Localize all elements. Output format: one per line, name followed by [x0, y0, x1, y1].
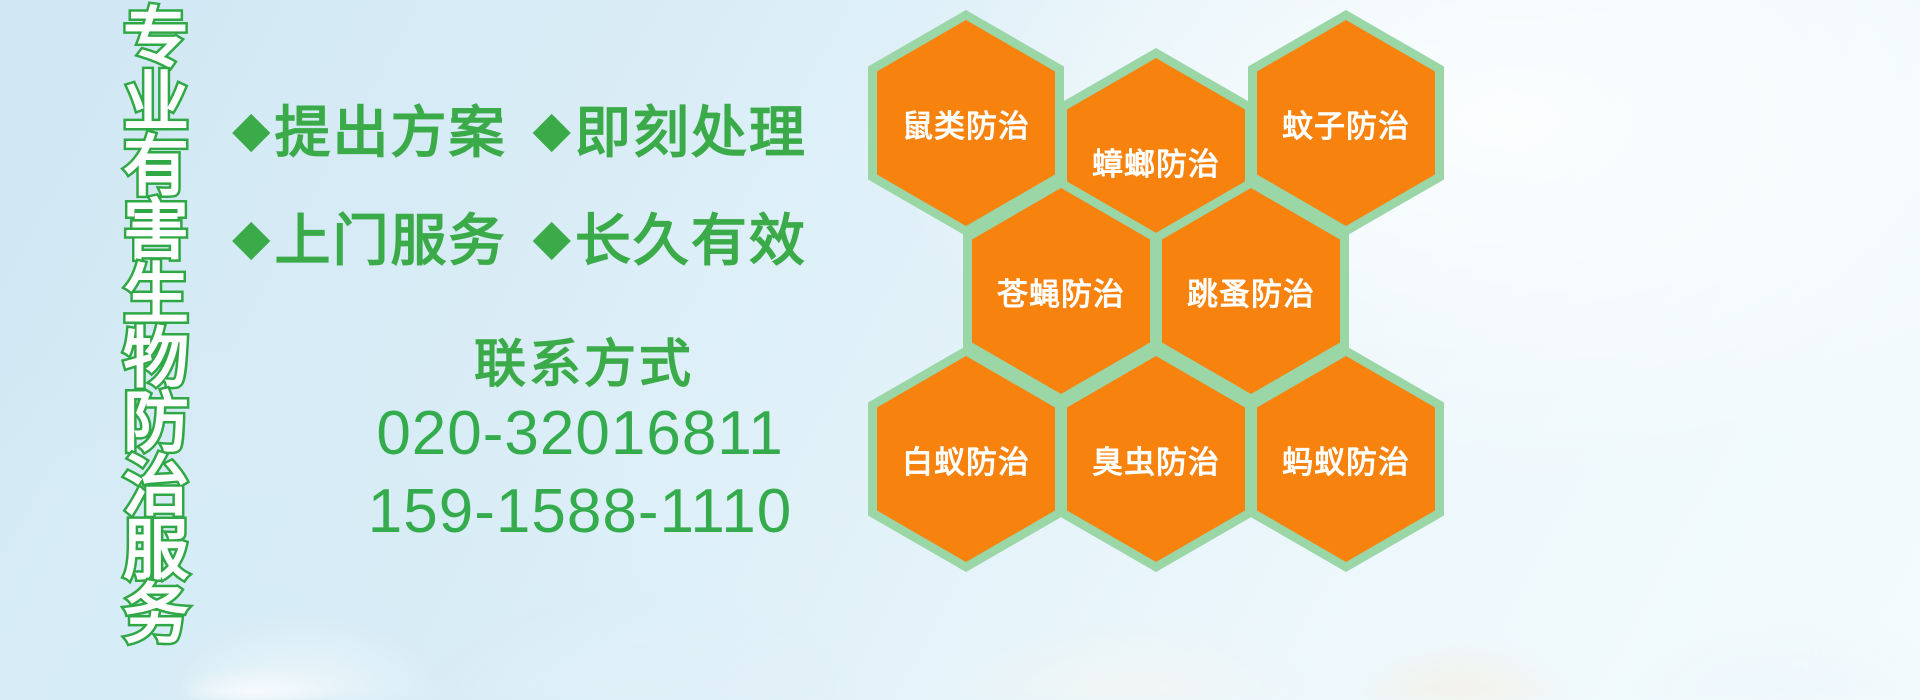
- slogan-text-propose-plan: 提出方案: [274, 88, 506, 169]
- vertical-headline-char: 防: [123, 390, 189, 454]
- contact-phone-mobile[interactable]: 159-1588-1110: [300, 476, 860, 547]
- slogan-text-immediate-handling: 即刻处理: [575, 88, 807, 169]
- hex-label: 鼠类防治: [902, 101, 1030, 146]
- contact-phone-landline[interactable]: 020-32016811: [300, 398, 860, 469]
- diamond-bullet-icon: ◆: [232, 212, 270, 262]
- pest-control-service-banner: 专 业 有 害 生 物 防 治 服 务 ◆ 提出方案 ◆ 即刻处理 ◆ 上门服务…: [0, 0, 1920, 700]
- hex-label: 苍蝇防治: [997, 269, 1125, 314]
- vertical-headline: 专 业 有 害 生 物 防 治 服 务: [104, 6, 208, 566]
- slogan-text-onsite-service: 上门服务: [274, 196, 506, 277]
- slogan-line-2: ◆ 上门服务 ◆ 长久有效: [232, 196, 807, 277]
- hex-label: 跳蚤防治: [1187, 269, 1315, 314]
- diamond-bullet-icon: ◆: [532, 212, 570, 262]
- hex-label: 蚂蚁防治: [1282, 437, 1410, 482]
- vertical-headline-char: 服: [123, 518, 189, 582]
- contact-heading: 联系方式: [424, 322, 744, 397]
- background-haze-secondary: [190, 640, 420, 700]
- vertical-headline-char: 有: [123, 134, 189, 198]
- vertical-headline-char: 害: [123, 198, 189, 262]
- vertical-headline-char: 务: [123, 582, 189, 646]
- vertical-headline-char: 生: [123, 262, 189, 326]
- diamond-bullet-icon: ◆: [232, 104, 270, 154]
- vertical-headline-char: 专: [123, 6, 189, 70]
- hex-label: 蚊子防治: [1282, 101, 1410, 146]
- diamond-bullet-icon: ◆: [532, 104, 570, 154]
- slogan-line-1: ◆ 提出方案 ◆ 即刻处理: [232, 88, 807, 169]
- vertical-headline-char: 物: [123, 326, 189, 390]
- vertical-headline-char: 治: [123, 454, 189, 518]
- hex-label: 蟑螂防治: [1092, 139, 1220, 184]
- hex-label: 臭虫防治: [1092, 437, 1220, 482]
- service-honeycomb-grid: 鼠类防治 蟑螂防治 蚊子防治 苍蝇防治 跳蚤防治 白蚁防治 臭虫防治: [862, 2, 1442, 562]
- vertical-headline-char: 业: [123, 70, 189, 134]
- hex-label: 白蚁防治: [902, 437, 1030, 482]
- slogan-text-long-lasting: 长久有效: [575, 196, 807, 277]
